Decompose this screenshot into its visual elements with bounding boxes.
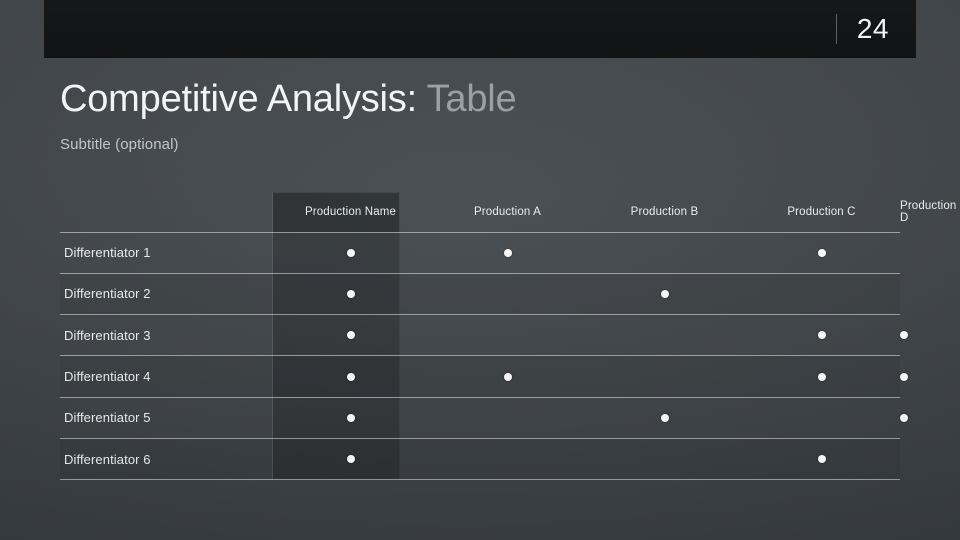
cell-name[interactable] (272, 356, 429, 397)
page-title-accent: Table (427, 78, 517, 120)
table-row[interactable]: Differentiator 3 (60, 315, 900, 356)
table-header-row: Production NameProduction AProduction BP… (60, 192, 900, 232)
header-divider (836, 14, 837, 44)
page-subtitle: Subtitle (optional) (60, 136, 179, 153)
table-body: Differentiator 1Differentiator 2Differen… (60, 232, 900, 480)
cell-c[interactable] (743, 273, 900, 314)
page-number: 24 (857, 15, 889, 43)
row-label: Differentiator 2 (60, 273, 272, 314)
cell-b[interactable] (586, 273, 743, 314)
dot-marker-icon (347, 373, 355, 381)
dot-marker-icon (900, 373, 908, 381)
dot-marker-icon (347, 249, 355, 257)
row-label: Differentiator 6 (60, 438, 272, 479)
cell-b[interactable] (586, 438, 743, 479)
cell-name[interactable] (272, 232, 429, 273)
dot-marker-icon (818, 373, 826, 381)
dot-marker-icon (818, 455, 826, 463)
row-label: Differentiator 1 (60, 232, 272, 273)
cell-b[interactable] (586, 315, 743, 356)
cell-name[interactable] (272, 397, 429, 438)
cell-name[interactable] (272, 315, 429, 356)
comparison-table-wrapper: Production NameProduction AProduction BP… (60, 192, 900, 480)
cell-b[interactable] (586, 397, 743, 438)
dot-marker-icon (900, 331, 908, 339)
cell-b[interactable] (586, 356, 743, 397)
cell-c[interactable] (743, 232, 900, 273)
row-label: Differentiator 4 (60, 356, 272, 397)
cell-c[interactable] (743, 315, 900, 356)
row-label: Differentiator 3 (60, 315, 272, 356)
dot-marker-icon (661, 414, 669, 422)
row-label: Differentiator 5 (60, 397, 272, 438)
table-header: Production NameProduction AProduction BP… (60, 192, 900, 232)
table-row[interactable]: Differentiator 2 (60, 273, 900, 314)
dot-marker-icon (900, 414, 908, 422)
cell-a[interactable] (429, 315, 586, 356)
dot-marker-icon (347, 414, 355, 422)
cell-c[interactable] (743, 397, 900, 438)
column-header-b[interactable]: Production B (586, 192, 743, 232)
cell-name[interactable] (272, 273, 429, 314)
table-corner-cell (60, 192, 272, 232)
dot-marker-icon (347, 455, 355, 463)
column-header-c[interactable]: Production C (743, 192, 900, 232)
column-header-name[interactable]: Production Name (272, 192, 429, 232)
page-title-main: Competitive Analysis: (60, 78, 417, 120)
cell-c[interactable] (743, 438, 900, 479)
table-row[interactable]: Differentiator 5 (60, 397, 900, 438)
dot-marker-icon (818, 249, 826, 257)
page-title: Competitive Analysis: Table (60, 79, 516, 121)
cell-b[interactable] (586, 232, 743, 273)
cell-a[interactable] (429, 273, 586, 314)
column-header-a[interactable]: Production A (429, 192, 586, 232)
cell-a[interactable] (429, 438, 586, 479)
dot-marker-icon (347, 331, 355, 339)
dot-marker-icon (818, 331, 826, 339)
slide-canvas: 24 Competitive Analysis: Table Subtitle … (0, 0, 960, 540)
cell-name[interactable] (272, 438, 429, 479)
cell-c[interactable] (743, 356, 900, 397)
dot-marker-icon (504, 373, 512, 381)
table-row[interactable]: Differentiator 4 (60, 356, 900, 397)
slide-header-bar: 24 (44, 0, 916, 58)
table-row[interactable]: Differentiator 1 (60, 232, 900, 273)
cell-a[interactable] (429, 397, 586, 438)
cell-a[interactable] (429, 356, 586, 397)
dot-marker-icon (347, 290, 355, 298)
dot-marker-icon (661, 290, 669, 298)
table-row[interactable]: Differentiator 6 (60, 438, 900, 479)
cell-a[interactable] (429, 232, 586, 273)
dot-marker-icon (504, 249, 512, 257)
comparison-table: Production NameProduction AProduction BP… (60, 192, 900, 480)
